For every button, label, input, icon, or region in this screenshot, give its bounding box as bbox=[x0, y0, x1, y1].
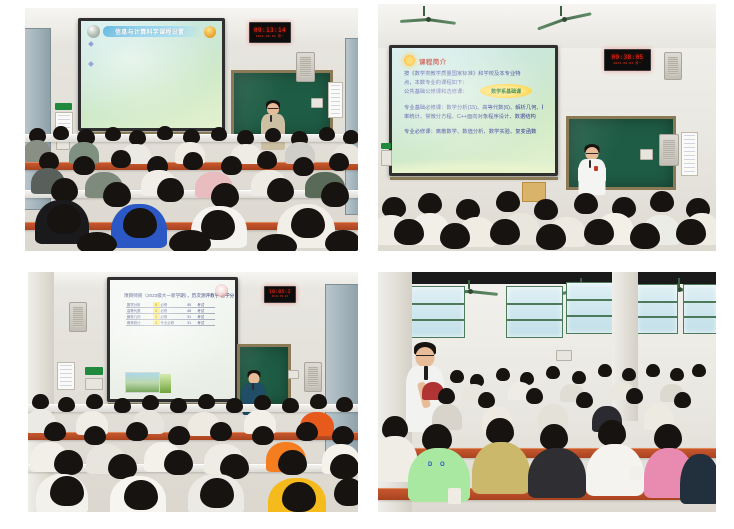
slide-logo-orb bbox=[87, 25, 100, 38]
slide-line: 按《数学类教学质量国家标准》和学校及本专业特 bbox=[404, 70, 543, 78]
university-logo-icon bbox=[215, 284, 228, 297]
slide-table: 数学分析5必修85考试高等代数4必修68考试解析几何3必修51考试概率统计3专业… bbox=[126, 302, 215, 326]
microphone-icon bbox=[589, 160, 591, 168]
table-cell: 概率统计 bbox=[126, 320, 153, 326]
slide-line: 专业基础必修课：数学分析(15)、高等代数(6)、解析几何、概 bbox=[404, 104, 543, 112]
wall-outlet bbox=[640, 149, 653, 160]
slide-content-top-left: 信息与计算科学课程设置 bbox=[81, 21, 222, 128]
ceiling-fan bbox=[544, 14, 584, 24]
audience bbox=[25, 126, 358, 251]
wall-speaker bbox=[664, 52, 682, 80]
table-cell: 51 bbox=[186, 320, 196, 326]
projection-screen: 项目师资（2023级大一新学期），历次测评教学 含学分 数学分析5必修85考试高… bbox=[107, 277, 238, 402]
wall-outlet bbox=[311, 98, 323, 108]
poster-right bbox=[328, 82, 343, 118]
poster-right bbox=[681, 132, 698, 176]
wall-outlet bbox=[85, 378, 103, 390]
clock-date: 2024-09-02 周一 bbox=[256, 35, 284, 38]
audience bbox=[28, 394, 358, 512]
photo-panel-top-right: 课程简介 按《数学类教学质量国家标准》和学校及本专业特 点，本数专业的课程如下：… bbox=[378, 4, 716, 251]
cup bbox=[630, 466, 642, 480]
slide-heading: 项目师资（2023级大一新学期），历次测评教学 含学分 bbox=[124, 293, 223, 299]
slide-title: 信息与计算科学课程设置 bbox=[103, 27, 184, 36]
audience: D O bbox=[378, 362, 716, 512]
clock-date: 2024-09-02 周一 bbox=[613, 62, 641, 65]
photo-panel-top-left: 信息与计算科学课程设置 bbox=[25, 8, 358, 251]
window bbox=[636, 284, 678, 334]
wall-outlet bbox=[288, 370, 299, 379]
table-cell: 考试 bbox=[196, 320, 211, 326]
student-shirt bbox=[680, 454, 716, 504]
led-clock: 09:13:14 2024-09-02 周一 bbox=[249, 22, 291, 43]
table-row: 概率统计3专业必修51考试 bbox=[126, 320, 215, 326]
diamond-bullet-icon bbox=[88, 61, 94, 67]
slide-corner-icon bbox=[204, 26, 216, 38]
slide-photo-2 bbox=[160, 374, 171, 393]
slide-bullet bbox=[89, 61, 214, 79]
wall-speaker bbox=[304, 362, 322, 392]
wall-speaker bbox=[69, 302, 87, 332]
table-cell: 专业必修 bbox=[160, 320, 187, 326]
window bbox=[408, 286, 465, 338]
window bbox=[566, 282, 616, 334]
shirt-graphic-text: D O bbox=[428, 462, 448, 468]
projection-screen: 信息与计算科学课程设置 bbox=[78, 18, 225, 131]
wall-speaker bbox=[296, 52, 315, 82]
led-clock: 09:38:05 2024-09-02 周一 bbox=[604, 49, 651, 71]
slide-photo bbox=[125, 372, 160, 393]
slide-title: 课程简介 bbox=[419, 56, 447, 66]
microphone-icon bbox=[270, 115, 272, 122]
slide-line: 率统计、常微分方程、C++面向对象程序设计、数据结构 bbox=[404, 113, 543, 121]
photo-panel-bottom-left: 项目师资（2023级大一新学期），历次测评教学 含学分 数学分析5必修85考试高… bbox=[28, 272, 358, 512]
window bbox=[506, 286, 563, 338]
photo-collage: 信息与计算科学课程设置 bbox=[0, 0, 734, 529]
glasses-icon bbox=[416, 355, 434, 358]
clock-date: 2024-09-02 bbox=[272, 296, 288, 298]
audience bbox=[378, 189, 716, 251]
table-cell: 3 bbox=[153, 320, 160, 326]
microphone-icon bbox=[252, 383, 254, 390]
clock-time: 09:13:14 bbox=[254, 28, 286, 34]
exit-sign bbox=[55, 103, 72, 110]
window bbox=[683, 284, 716, 334]
wall-outlet bbox=[381, 150, 392, 166]
exit-sign bbox=[381, 143, 391, 149]
ceiling-fan bbox=[408, 14, 448, 24]
exit-sign bbox=[85, 367, 103, 375]
student-shirt bbox=[528, 448, 586, 498]
slide-bullet bbox=[89, 41, 214, 59]
photo-panel-bottom-right: D O bbox=[378, 272, 716, 512]
student-shirt bbox=[472, 442, 530, 494]
cup bbox=[448, 488, 461, 504]
led-clock: 10:05:2 2024-09-02 bbox=[264, 286, 296, 303]
table-cell bbox=[212, 320, 216, 326]
diamond-bullet-icon bbox=[88, 41, 94, 47]
wall-speaker bbox=[659, 134, 679, 166]
sun-icon bbox=[404, 55, 415, 66]
projection-screen: 课程简介 按《数学类教学质量国家标准》和学校及本专业特 点，本数专业的课程如下：… bbox=[389, 45, 558, 176]
slide-badge: 数学系基础课 bbox=[480, 84, 532, 98]
wall-outlet bbox=[556, 350, 572, 361]
slide-badge-label: 数学系基础课 bbox=[491, 88, 521, 95]
poster-left bbox=[57, 362, 75, 390]
